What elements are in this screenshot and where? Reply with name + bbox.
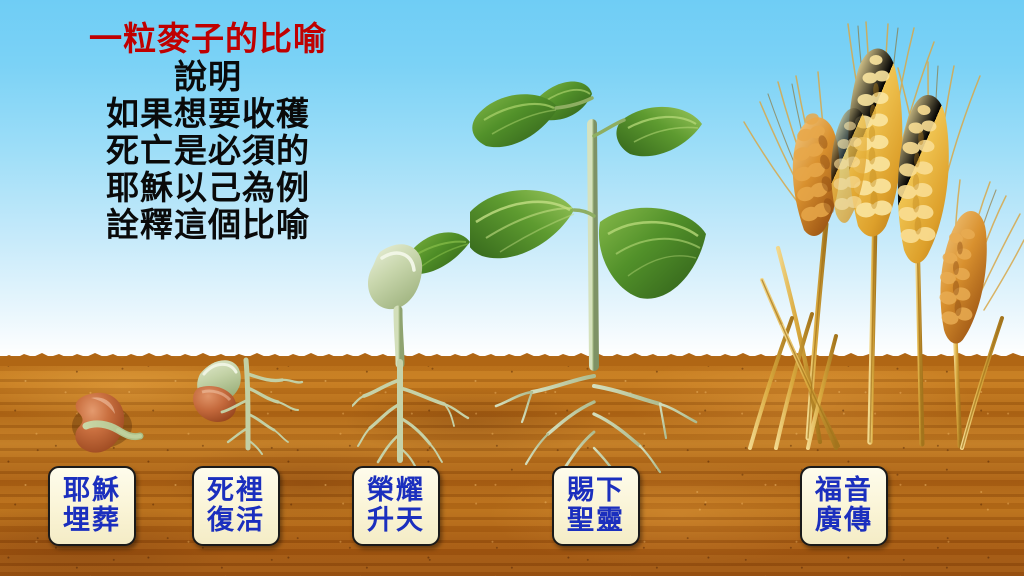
stage-label-4[interactable]: 賜下 聖靈 bbox=[552, 466, 640, 546]
slide-canvas: 一粒麥子的比喻 說明 如果想要收穫 死亡是必須的 耶穌以己為例 詮釋這個比喻 耶… bbox=[0, 0, 1024, 576]
stage-label-5[interactable]: 福音 廣傳 bbox=[800, 466, 888, 546]
body-line-4: 詮釋這個比喻 bbox=[38, 208, 378, 241]
wheat-ear-right-center bbox=[897, 95, 949, 263]
stage-label-2-line1: 死裡 bbox=[207, 476, 265, 506]
stage-label-3[interactable]: 榮耀 升天 bbox=[352, 466, 440, 546]
body-line-3: 耶穌以己為例 bbox=[38, 171, 378, 204]
stage-label-1-line1: 耶穌 bbox=[63, 476, 121, 506]
caption-text-block: 一粒麥子的比喻 說明 如果想要收穫 死亡是必須的 耶穌以己為例 詮釋這個比喻 bbox=[38, 22, 378, 245]
stage-label-5-line2: 廣傳 bbox=[815, 506, 873, 536]
stage-label-4-line1: 賜下 bbox=[567, 476, 625, 506]
stage-4-leafy-plant bbox=[470, 76, 720, 476]
stage-label-3-line2: 升天 bbox=[367, 506, 425, 536]
stage-label-2-line2: 復活 bbox=[207, 506, 265, 536]
stage-5-ripe-wheat bbox=[716, 18, 1024, 478]
stage-label-5-line1: 福音 bbox=[815, 476, 873, 506]
stage-label-4-line2: 聖靈 bbox=[567, 506, 625, 536]
page-title: 一粒麥子的比喻 bbox=[38, 22, 378, 55]
stage-2-germinating-seed bbox=[178, 344, 328, 469]
subtitle: 說明 bbox=[38, 60, 378, 93]
body-line-1: 如果想要收穫 bbox=[38, 97, 378, 130]
stage-label-3-line1: 榮耀 bbox=[367, 476, 425, 506]
stage-label-2[interactable]: 死裡 復活 bbox=[192, 466, 280, 546]
stage-1-buried-seed bbox=[60, 378, 190, 468]
stage-label-1[interactable]: 耶穌 埋葬 bbox=[48, 466, 136, 546]
wheat-ear-lower-right bbox=[938, 211, 987, 344]
stage-label-1-line2: 埋葬 bbox=[63, 506, 121, 536]
body-line-2: 死亡是必須的 bbox=[38, 134, 378, 167]
